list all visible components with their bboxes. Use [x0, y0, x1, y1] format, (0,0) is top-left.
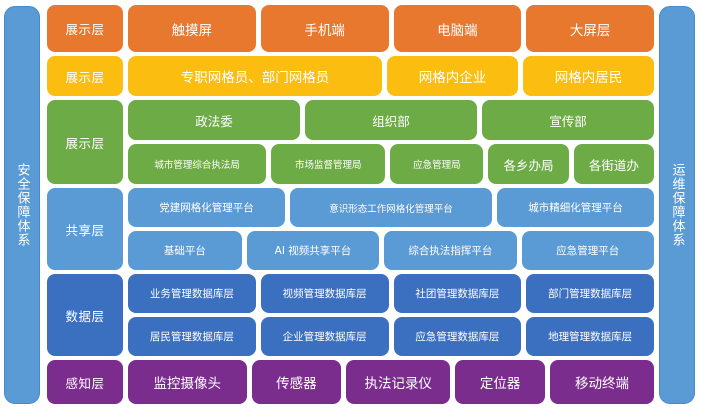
layer-body-share: 党建网格化管理平台意识形态工作网格化管理平台城市精细化管理平台基础平台AI 视频… — [128, 188, 654, 270]
node-display_gov-1-0[interactable]: 城市管理综合执法局 — [128, 144, 266, 184]
node-data-0-3[interactable]: 部门管理数据库层 — [526, 274, 654, 313]
node-data-1-1[interactable]: 企业管理数据库层 — [261, 317, 389, 356]
node-share-0-0[interactable]: 党建网格化管理平台 — [128, 188, 285, 227]
layer-band-data: 数据层业务管理数据库层视频管理数据库层社团管理数据库层部门管理数据库层居民管理数… — [47, 274, 654, 356]
node-display_gov-1-4[interactable]: 各街道办 — [574, 144, 654, 184]
node-display_people-0-0[interactable]: 专职网格员、部门网格员 — [128, 56, 382, 96]
layer-body-display_terminal: 触摸屏手机端电脑端大屏层 — [128, 5, 654, 52]
node-data-1-3[interactable]: 地理管理数据库层 — [526, 317, 654, 356]
node-share-1-2[interactable]: 综合执法指挥平台 — [384, 231, 516, 270]
node-sense-0-1[interactable]: 传感器 — [252, 360, 342, 404]
layer-body-data: 业务管理数据库层视频管理数据库层社团管理数据库层部门管理数据库层居民管理数据库层… — [128, 274, 654, 356]
layer-stack: 展示层触摸屏手机端电脑端大屏层展示层专职网格员、部门网格员网格内企业网格内居民展… — [47, 5, 654, 409]
layer-band-share: 共享层党建网格化管理平台意识形态工作网格化管理平台城市精细化管理平台基础平台AI… — [47, 188, 654, 270]
node-data-0-2[interactable]: 社团管理数据库层 — [394, 274, 522, 313]
node-display_gov-0-1[interactable]: 组织部 — [305, 100, 477, 140]
left-pillar-label: 安全保障体系 — [13, 163, 32, 247]
layer-label-display_gov[interactable]: 展示层 — [47, 100, 123, 184]
layer-row: 业务管理数据库层视频管理数据库层社团管理数据库层部门管理数据库层 — [128, 274, 654, 313]
node-display_gov-1-3[interactable]: 各乡办局 — [488, 144, 568, 184]
node-display_gov-0-2[interactable]: 宣传部 — [482, 100, 654, 140]
layer-band-display_gov: 展示层政法委组织部宣传部城市管理综合执法局市场监督管理局应急管理局各乡办局各街道… — [47, 100, 654, 184]
layer-body-sense: 监控摄像头传感器执法记录仪定位器移动终端 — [128, 360, 654, 404]
node-sense-0-3[interactable]: 定位器 — [455, 360, 545, 404]
layer-row: 专职网格员、部门网格员网格内企业网格内居民 — [128, 56, 654, 96]
layer-label-display_terminal[interactable]: 展示层 — [47, 5, 123, 52]
node-share-0-1[interactable]: 意识形态工作网格化管理平台 — [290, 188, 492, 227]
layer-row: 居民管理数据库层企业管理数据库层应急管理数据库层地理管理数据库层 — [128, 317, 654, 356]
layer-label-display_people[interactable]: 展示层 — [47, 56, 123, 96]
layer-body-display_people: 专职网格员、部门网格员网格内企业网格内居民 — [128, 56, 654, 96]
layer-band-display_people: 展示层专职网格员、部门网格员网格内企业网格内居民 — [47, 56, 654, 96]
node-display_terminal-0-3[interactable]: 大屏层 — [526, 5, 654, 52]
layer-label-share[interactable]: 共享层 — [47, 188, 123, 270]
node-sense-0-0[interactable]: 监控摄像头 — [128, 360, 247, 404]
layer-label-data[interactable]: 数据层 — [47, 274, 123, 356]
node-display_people-0-2[interactable]: 网格内居民 — [523, 56, 654, 96]
layer-band-display_terminal: 展示层触摸屏手机端电脑端大屏层 — [47, 5, 654, 52]
node-display_gov-1-1[interactable]: 市场监督管理局 — [271, 144, 385, 184]
left-pillar-security-system: 安全保障体系 — [4, 6, 40, 404]
node-display_gov-1-2[interactable]: 应急管理局 — [390, 144, 483, 184]
node-display_people-0-1[interactable]: 网格内企业 — [387, 56, 518, 96]
layer-row: 基础平台AI 视频共享平台综合执法指挥平台应急管理平台 — [128, 231, 654, 270]
node-share-1-0[interactable]: 基础平台 — [128, 231, 242, 270]
node-data-1-0[interactable]: 居民管理数据库层 — [128, 317, 256, 356]
node-data-1-2[interactable]: 应急管理数据库层 — [394, 317, 522, 356]
node-sense-0-2[interactable]: 执法记录仪 — [346, 360, 450, 404]
layer-row: 城市管理综合执法局市场监督管理局应急管理局各乡办局各街道办 — [128, 144, 654, 184]
node-data-0-0[interactable]: 业务管理数据库层 — [128, 274, 256, 313]
node-data-0-1[interactable]: 视频管理数据库层 — [261, 274, 389, 313]
right-pillar-ops-system: 运维保障体系 — [659, 6, 695, 404]
layer-band-sense: 感知层监控摄像头传感器执法记录仪定位器移动终端 — [47, 360, 654, 404]
node-share-1-1[interactable]: AI 视频共享平台 — [247, 231, 379, 270]
node-display_terminal-0-0[interactable]: 触摸屏 — [128, 5, 256, 52]
layer-label-sense[interactable]: 感知层 — [47, 360, 123, 404]
node-sense-0-4[interactable]: 移动终端 — [550, 360, 654, 404]
node-display_terminal-0-1[interactable]: 手机端 — [261, 5, 389, 52]
node-display_gov-0-0[interactable]: 政法委 — [128, 100, 300, 140]
layer-row: 党建网格化管理平台意识形态工作网格化管理平台城市精细化管理平台 — [128, 188, 654, 227]
right-pillar-label: 运维保障体系 — [668, 163, 687, 247]
architecture-diagram: 安全保障体系 展示层触摸屏手机端电脑端大屏层展示层专职网格员、部门网格员网格内企… — [0, 0, 701, 414]
node-share-0-2[interactable]: 城市精细化管理平台 — [497, 188, 654, 227]
node-display_terminal-0-2[interactable]: 电脑端 — [394, 5, 522, 52]
layer-row: 政法委组织部宣传部 — [128, 100, 654, 140]
layer-row: 触摸屏手机端电脑端大屏层 — [128, 5, 654, 52]
node-share-1-3[interactable]: 应急管理平台 — [522, 231, 654, 270]
layer-body-display_gov: 政法委组织部宣传部城市管理综合执法局市场监督管理局应急管理局各乡办局各街道办 — [128, 100, 654, 184]
layer-row: 监控摄像头传感器执法记录仪定位器移动终端 — [128, 360, 654, 404]
